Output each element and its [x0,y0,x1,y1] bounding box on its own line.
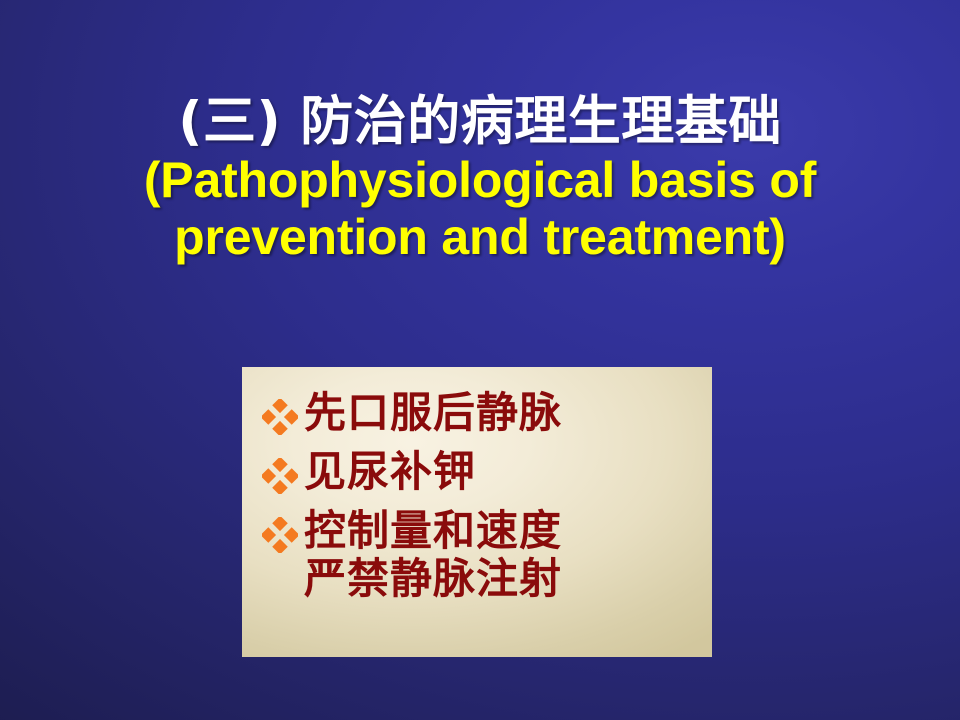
list-item: 先口服后静脉 [256,389,698,436]
page-subtitle: (Pathophysiological basis of prevention … [0,152,960,265]
slide-canvas: (三) 防治的病理生理基础 (Pathophysiological basis … [0,0,960,720]
page-title: (三) 防治的病理生理基础 [0,94,960,150]
diamond-cluster-bullet-icon [256,448,304,494]
diamond-cluster-bullet-icon [256,507,304,553]
diamond-cluster-bullet-icon [256,389,304,435]
list-item: 见尿补钾 [256,448,698,495]
list-item: 控制量和速度 严禁静脉注射 [256,507,698,603]
title-block: (三) 防治的病理生理基础 (Pathophysiological basis … [0,94,960,265]
list-item-label: 见尿补钾 [304,448,698,495]
content-box: 先口服后静脉 见尿补钾 [242,367,712,657]
list-item-label: 控制量和速度 严禁静脉注射 [304,507,698,603]
list-item-label: 先口服后静脉 [304,389,698,436]
